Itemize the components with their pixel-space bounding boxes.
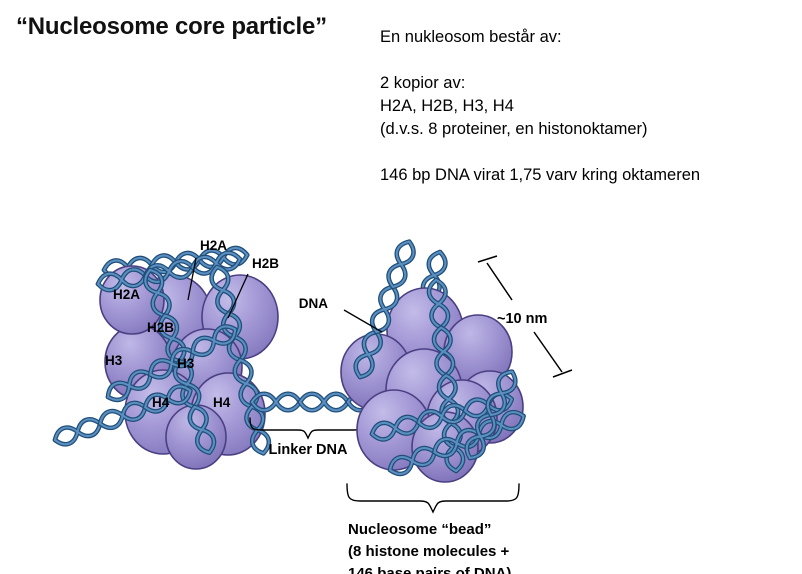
text-line: En nukleosom består av:	[380, 26, 700, 49]
left-nucleosome-group	[52, 247, 278, 469]
right-nucleosome-group	[341, 239, 527, 482]
label-h2a-inner: H2A	[113, 287, 140, 302]
label-h3-center: H3	[177, 356, 195, 371]
slide-canvas: “Nucleosome core particle” En nukleosom …	[0, 0, 802, 574]
dimension-line-upper	[487, 263, 512, 300]
caption-line-2: (8 histone molecules +	[348, 543, 510, 560]
paragraph-intro: En nukleosom består av:	[380, 26, 700, 49]
caption-brace	[347, 484, 519, 512]
text-line: 146 bp DNA virat 1,75 varv kring oktamer…	[380, 164, 700, 187]
label-h3-left: H3	[105, 353, 123, 368]
dimension-cap-bottom	[553, 370, 572, 377]
right-dna-label-group: DNA	[299, 296, 382, 332]
caption-group: Nucleosome “bead” (8 histone molecules +…	[347, 484, 519, 574]
label-dna: DNA	[299, 296, 328, 311]
label-h2b-outer: H2B	[252, 256, 279, 271]
label-h2b-inner: H2B	[147, 320, 174, 335]
label-10nm: ~10 nm	[497, 311, 547, 327]
description-text-block: En nukleosom består av: 2 kopior av: H2A…	[380, 26, 700, 187]
caption-line-1: Nucleosome “bead”	[348, 521, 491, 538]
label-h2a-outer: H2A	[200, 238, 227, 253]
dimension-line-lower	[534, 332, 562, 372]
label-h4-right: H4	[213, 395, 231, 410]
text-line: H2A, H2B, H3, H4	[380, 95, 700, 118]
paragraph-copies: 2 kopior av: H2A, H2B, H3, H4 (d.v.s. 8 …	[380, 72, 700, 141]
linker-dna-label: Linker DNA	[269, 442, 348, 458]
caption-line-3: 146 base pairs of DNA)	[348, 565, 511, 574]
dimension-cap-top	[478, 256, 497, 262]
text-line: (d.v.s. 8 proteiner, en histonoktamer)	[380, 118, 700, 141]
label-h4-left: H4	[152, 395, 170, 410]
nucleosome-diagram: Linker DNA	[0, 222, 802, 574]
text-line: 2 kopior av:	[380, 72, 700, 95]
paragraph-dna-wrap: 146 bp DNA virat 1,75 varv kring oktamer…	[380, 164, 700, 187]
page-title: “Nucleosome core particle”	[16, 13, 327, 41]
